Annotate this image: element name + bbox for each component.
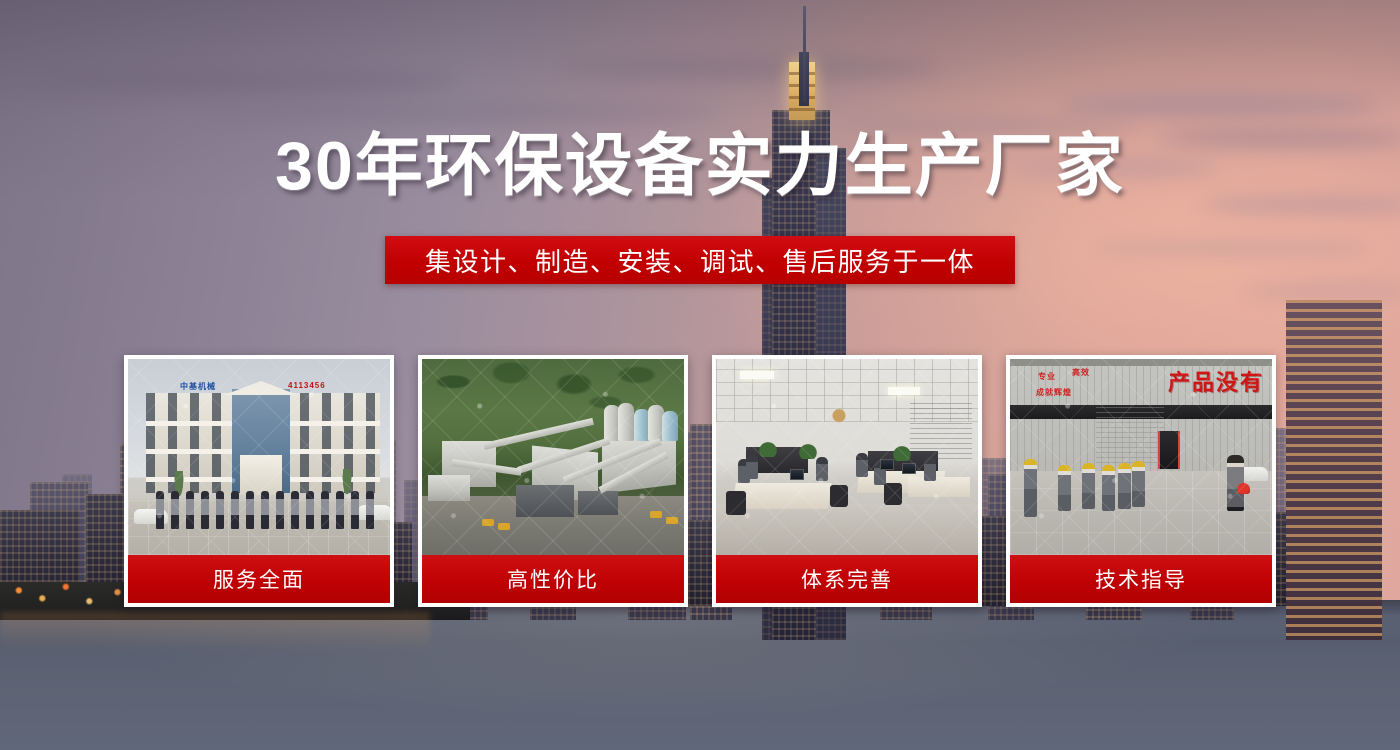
card-label: 技术指导 xyxy=(1010,555,1272,603)
card-label: 服务全面 xyxy=(128,555,390,603)
card-photo-office-interior xyxy=(716,359,978,555)
building-sign-text: 中基机械 xyxy=(180,381,216,392)
page-title: 30年环保设备实力生产厂家 xyxy=(0,132,1400,200)
subtitle-ribbon: 集设计、制造、安装、调试、售后服务于一体 xyxy=(385,236,1015,284)
factory-sign-main: 产品没有 xyxy=(1168,365,1264,397)
card-photo-factory-workers: 产品没有 专业 高效 成就辉煌 xyxy=(1010,359,1272,555)
card-photo-industrial-plant xyxy=(422,359,684,555)
subtitle-text: 集设计、制造、安装、调试、售后服务于一体 xyxy=(425,242,975,279)
illuminated-building xyxy=(1286,300,1382,640)
promo-banner: 30年环保设备实力生产厂家 集设计、制造、安装、调试、售后服务于一体 中基机械 … xyxy=(0,0,1400,750)
feature-card[interactable]: 中基机械 4113456 xyxy=(124,355,394,607)
feature-card[interactable]: 体系完善 xyxy=(712,355,982,607)
staff-row xyxy=(156,491,374,533)
factory-sign-secondary: 成就辉煌 xyxy=(1036,387,1072,398)
factory-sign-secondary: 高效 xyxy=(1072,367,1090,378)
card-label: 体系完善 xyxy=(716,555,978,603)
building-phone-text: 4113456 xyxy=(288,381,326,390)
landmark-tower-spire xyxy=(803,6,806,102)
riverbank-reflection xyxy=(0,612,430,652)
feature-card[interactable]: 产品没有 专业 高效 成就辉煌 技术指导 xyxy=(1006,355,1276,607)
card-label: 高性价比 xyxy=(422,555,684,603)
feature-card[interactable]: 高性价比 xyxy=(418,355,688,607)
card-photo-headquarters: 中基机械 4113456 xyxy=(128,359,390,555)
feature-card-list: 中基机械 4113456 xyxy=(124,355,1276,607)
factory-sign-secondary: 专业 xyxy=(1038,371,1056,382)
